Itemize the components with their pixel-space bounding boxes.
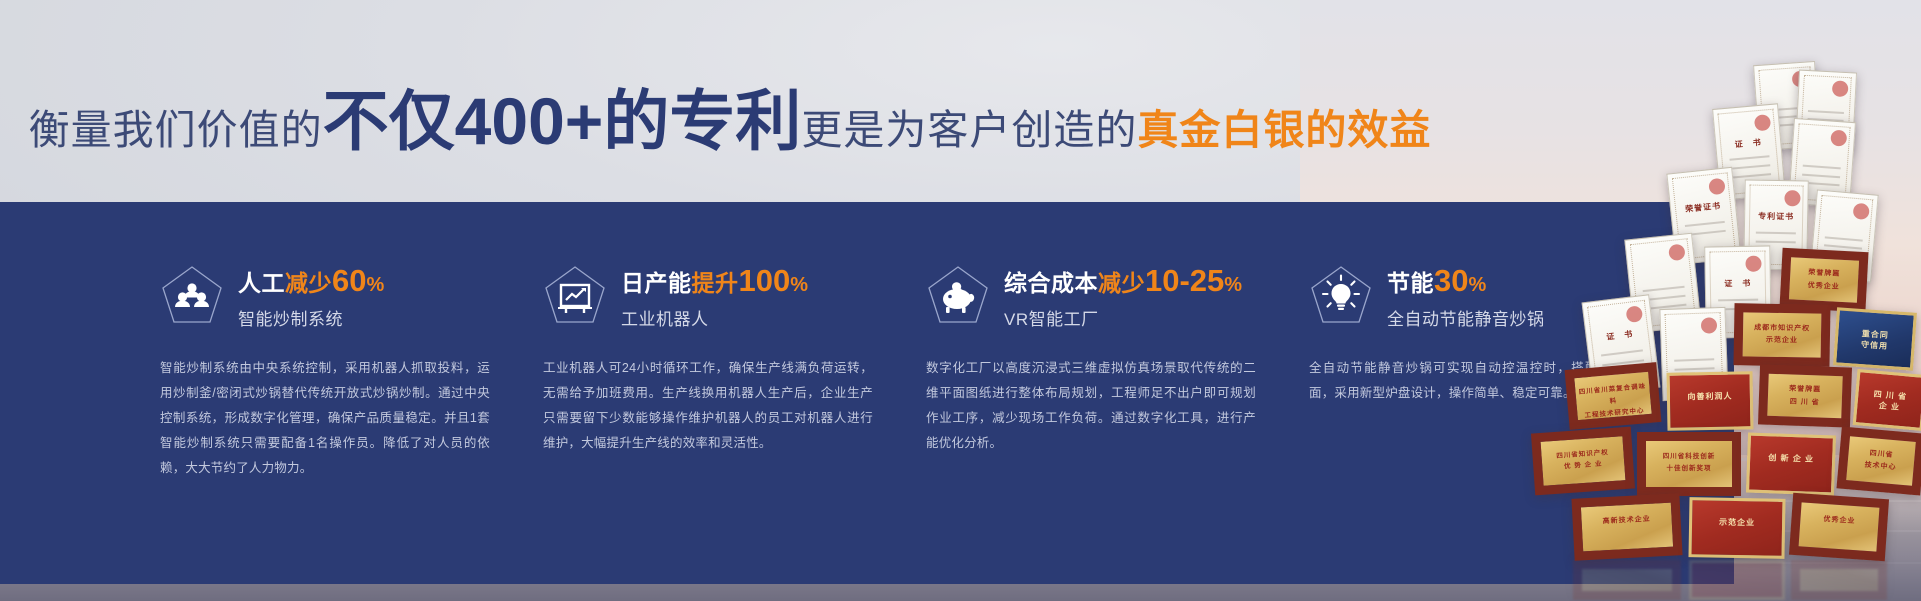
people-group-icon [160, 264, 224, 328]
headline-part-1: 衡量我们价值的 [29, 107, 323, 153]
certificate-plaque-gold: 优秀企业 [1789, 493, 1889, 562]
feature-title-verb: 减少 [285, 270, 332, 296]
feature-card-capacity[interactable]: 日产能提升100% 工业机器人 工业机器人可24小时循环工作，确保生产线满负荷运… [543, 262, 926, 481]
feature-title-verb: 减少 [1098, 270, 1145, 296]
certificate-plaque-gold: 四川省科技创新十佳创新奖项 [1637, 432, 1741, 496]
page-title: 衡量我们价值的不仅400+的专利更是为客户创造的真金白银的效益 [0, 88, 1460, 154]
chart-board-icon [543, 264, 607, 328]
feature-header: 人工减少60% 智能炒制系统 [160, 262, 501, 330]
feature-description: 智能炒制系统由中央系统控制，采用机器人抓取投料，运用炒制釜/密闭式炒锅替代传统开… [160, 356, 490, 481]
feature-metric-unit: % [790, 274, 808, 296]
feature-title-prefix: 人工 [238, 270, 285, 296]
certificate-reflection [1689, 560, 1785, 600]
certificate-reflection [1791, 560, 1887, 600]
feature-card-labor[interactable]: 人工减少60% 智能炒制系统 智能炒制系统由中央系统控制，采用机器人抓取投料，运… [160, 262, 543, 481]
feature-title-prefix: 日产能 [621, 270, 692, 296]
feature-title: 人工减少60% [238, 264, 385, 298]
certificate-plaque-gold: 成都市知识产权示范企业 [1733, 303, 1830, 367]
certificate-plaque-gold: 四川省技术中心 [1836, 426, 1921, 495]
feature-metric-value: 10-25 [1145, 263, 1224, 298]
feature-title: 综合成本减少10-25% [1004, 264, 1243, 298]
feature-metric-unit: % [1224, 274, 1242, 296]
feature-text: 人工减少60% 智能炒制系统 [238, 262, 385, 330]
feature-title-prefix: 综合成本 [1004, 270, 1098, 296]
feature-text: 综合成本减少10-25% VR智能工厂 [1004, 262, 1243, 330]
feature-text: 日产能提升100% 工业机器人 [621, 262, 809, 330]
feature-card-cost[interactable]: 综合成本减少10-25% VR智能工厂 数字化工厂以高度沉浸式三维虚拟仿真场景取… [926, 262, 1309, 481]
certificate-plaque-red: 向善利润人 [1667, 371, 1754, 430]
piggy-bank-icon [926, 264, 990, 328]
headline-highlight-patents: 不仅400+的专利 [323, 84, 802, 158]
feature-subtitle: VR智能工厂 [1004, 305, 1243, 330]
certificate-plaque-red: 创 新 企 业 [1746, 432, 1836, 495]
certificate-reflection [1573, 560, 1681, 600]
certificate-plaque-gold: 高新技术企业 [1571, 493, 1682, 561]
feature-description: 数字化工厂以高度沉浸式三维虚拟仿真场景取代传统的二维平面图纸进行整体布局规划，工… [926, 356, 1256, 456]
certificate-plaque-gold: 荣誉牌匾四 川 省 [1758, 364, 1852, 427]
certificate-plaque-blue: 重合同守信用 [1833, 307, 1917, 370]
feature-title: 日产能提升100% [621, 264, 809, 298]
certificate-plaque-gold: 四川省川菜复合调味料工程技术研究中心 [1565, 362, 1662, 430]
feature-description: 工业机器人可24小时循环工作，确保生产线满负荷运转，无需给予加班费用。生产线换用… [543, 356, 873, 456]
certificate-plaque-gold: 四川省知识产权优 势 企 业 [1531, 427, 1635, 496]
feature-title-verb: 提升 [692, 270, 739, 296]
feature-metric-value: 100 [739, 263, 791, 298]
certificate-wall: 证 书 荣誉证书 专利证书 证 书 荣誉牌匾优秀企业 证 书 成都市知识产权示范… [1361, 60, 1921, 601]
certificate-plaque-red: 示范企业 [1688, 497, 1785, 559]
feature-subtitle: 工业机器人 [621, 305, 809, 330]
headline-part-3: 更是为客户创造的 [801, 107, 1137, 153]
certificate-plaque-gold: 荣誉牌匾优秀企业 [1779, 248, 1868, 312]
feature-metric-unit: % [366, 274, 384, 296]
feature-header: 综合成本减少10-25% VR智能工厂 [926, 262, 1267, 330]
feature-subtitle: 智能炒制系统 [238, 305, 385, 330]
feature-header: 日产能提升100% 工业机器人 [543, 262, 884, 330]
feature-metric-value: 60 [332, 263, 366, 298]
certificate-plaque-red: 四 川 省企 业 [1853, 369, 1921, 431]
